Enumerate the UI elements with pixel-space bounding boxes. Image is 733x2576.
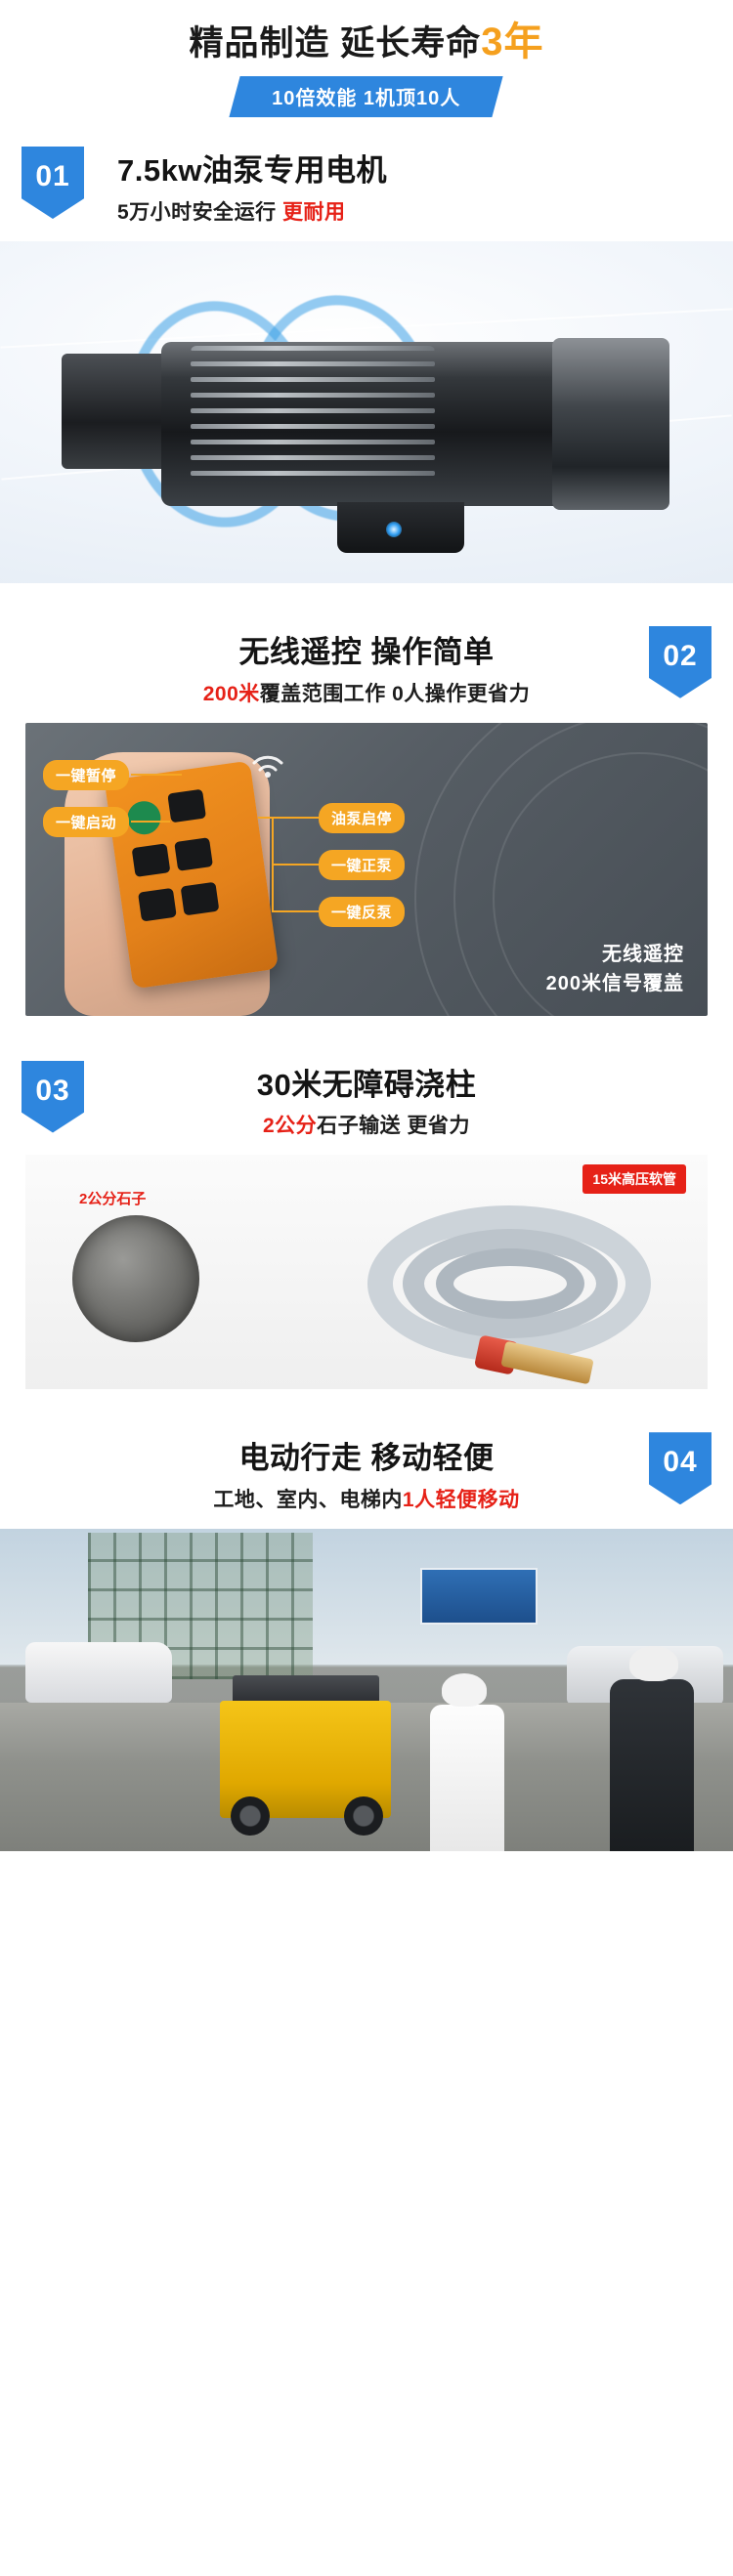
section-03-badge-number: 03: [35, 1075, 69, 1108]
section-02-subtitle: 200米覆盖范围工作 0人操作更省力: [0, 678, 733, 707]
feature-section-02: 02 无线遥控 操作简单 200米覆盖范围工作 0人操作更省力: [0, 609, 733, 1016]
motor-cooling-fins: [191, 346, 435, 502]
worker-center: [430, 1705, 504, 1851]
callout-reverse-pump: 一键反泵: [319, 897, 405, 927]
signal-waves-icon: [248, 750, 287, 789]
spacer: [0, 583, 733, 609]
callout-leader-line: [272, 910, 319, 912]
section-04-subtitle: 工地、室内、电梯内1人轻便移动: [0, 1484, 733, 1513]
remote-button-reverse: [174, 837, 213, 871]
headline-ribbon: 10倍效能 1机顶10人: [230, 76, 503, 117]
gravel-photo: [72, 1215, 199, 1342]
section-02-caption-line1: 无线遥控: [546, 940, 684, 969]
hose-length-tag: 15米高压软管: [582, 1164, 686, 1194]
section-02-title: 无线遥控 操作简单: [0, 634, 733, 672]
section-01-badge-number: 01: [35, 160, 69, 193]
motor-illustration: [44, 295, 689, 559]
section-03-subtitle-accent: 2公分: [263, 1115, 317, 1137]
section-01-title: 7.5kw油泵专用电机: [117, 152, 733, 190]
section-02-badge-number: 02: [663, 640, 697, 673]
machine-wheel: [231, 1796, 270, 1836]
callout-pause: 一键暂停: [43, 760, 129, 790]
section-04-subtitle-accent: 1人轻便移动: [403, 1489, 520, 1511]
machine-wheel: [344, 1796, 383, 1836]
ribbon-label: 10倍效能 1机顶10人: [273, 82, 461, 110]
callout-forward-pump: 一键正泵: [319, 850, 405, 880]
spacer: [0, 1851, 733, 1865]
section-01-subtitle-plain: 5万小时安全运行: [117, 201, 282, 224]
section-02-image-wrap: 一键暂停 一键启动 油泵启停 一键正泵 一键反泵 无线遥控 200米信号覆盖: [0, 723, 733, 1016]
led-glow-icon: [386, 522, 402, 537]
motor-end-cap: [552, 338, 669, 510]
section-02-caption-line2: 200米信号覆盖: [546, 969, 684, 998]
section-03-image-wrap: 2公分石子 15米高压软管: [0, 1155, 733, 1389]
remote-button-spare-1: [138, 887, 177, 921]
section-04-head: 04 电动行走 移动轻便 工地、室内、电梯内1人轻便移动: [0, 1415, 733, 1529]
feature-section-04: 04 电动行走 移动轻便 工地、室内、电梯内1人轻便移动: [0, 1415, 733, 1851]
section-04-subtitle-plain: 工地、室内、电梯内: [213, 1489, 403, 1511]
callout-leader-line: [131, 774, 182, 776]
callout-leader-line: [131, 821, 170, 823]
section-04-title: 电动行走 移动轻便: [0, 1440, 733, 1478]
page-title-accent: 3年: [481, 21, 543, 63]
remote-button-stop: [125, 798, 162, 835]
spacer: [0, 1389, 733, 1415]
feature-section-01: 01 7.5kw油泵专用电机 5万小时安全运行 更耐用: [0, 127, 733, 583]
page-header: 精品制造 延长寿命3年 10倍效能 1机顶10人: [0, 0, 733, 127]
page-title-main: 精品制造 延长寿命: [190, 24, 482, 63]
ribbon-wrap: 10倍效能 1机顶10人: [0, 76, 733, 117]
white-van: [25, 1642, 172, 1703]
callout-leader-line: [272, 817, 274, 910]
section-02-image: 一键暂停 一键启动 油泵启停 一键正泵 一键反泵 无线遥控 200米信号覆盖: [25, 723, 708, 1016]
product-detail-page: 精品制造 延长寿命3年 10倍效能 1机顶10人 01 7.5kw油泵专用电机 …: [0, 0, 733, 1865]
remote-button-spare-2: [181, 881, 220, 915]
callout-start: 一键启动: [43, 807, 129, 837]
section-02-caption: 无线遥控 200米信号覆盖: [546, 940, 684, 998]
section-01-head: 01 7.5kw油泵专用电机 5万小时安全运行 更耐用: [0, 127, 733, 241]
callout-pump-onoff: 油泵启停: [319, 803, 405, 833]
section-03-subtitle: 2公分石子输送 更省力: [0, 1110, 733, 1139]
callout-leader-line: [272, 864, 319, 866]
section-03-title: 30米无障碍浇柱: [0, 1067, 733, 1105]
section-03-image: 2公分石子 15米高压软管: [25, 1155, 708, 1389]
section-04-image: [0, 1529, 733, 1851]
site-signboard: [420, 1568, 538, 1625]
worker-right: [610, 1679, 694, 1851]
motor-gearbox: [62, 354, 169, 469]
section-04-badge-number: 04: [663, 1446, 697, 1479]
callout-leader-line: [258, 817, 319, 819]
remote-button-forward: [132, 843, 171, 877]
stone-size-label: 2公分石子: [79, 1188, 146, 1208]
section-03-head: 03 30米无障碍浇柱 2公分石子输送 更省力: [0, 1041, 733, 1156]
section-02-subtitle-plain: 覆盖范围工作 0人操作更省力: [260, 683, 531, 705]
hose-coil-ring: [436, 1248, 584, 1319]
remote-button-pump: [167, 788, 206, 823]
section-01-subtitle-accent: 更耐用: [282, 201, 346, 224]
section-01-image: [0, 241, 733, 583]
section-01-text: 7.5kw油泵专用电机 5万小时安全运行 更耐用: [0, 152, 733, 226]
remote-control-device: [105, 760, 279, 989]
section-02-head: 02 无线遥控 操作简单 200米覆盖范围工作 0人操作更省力: [0, 609, 733, 723]
feature-section-03: 03 30米无障碍浇柱 2公分石子输送 更省力 2公分石子 15米高压软管: [0, 1041, 733, 1390]
spacer: [0, 1016, 733, 1041]
section-01-subtitle: 5万小时安全运行 更耐用: [117, 196, 733, 226]
section-03-subtitle-plain: 石子输送 更省力: [317, 1115, 470, 1137]
safety-helmet-icon: [629, 1646, 678, 1681]
section-02-subtitle-accent: 200米: [203, 683, 260, 705]
safety-helmet-icon: [442, 1673, 487, 1707]
page-title: 精品制造 延长寿命3年: [0, 18, 733, 66]
